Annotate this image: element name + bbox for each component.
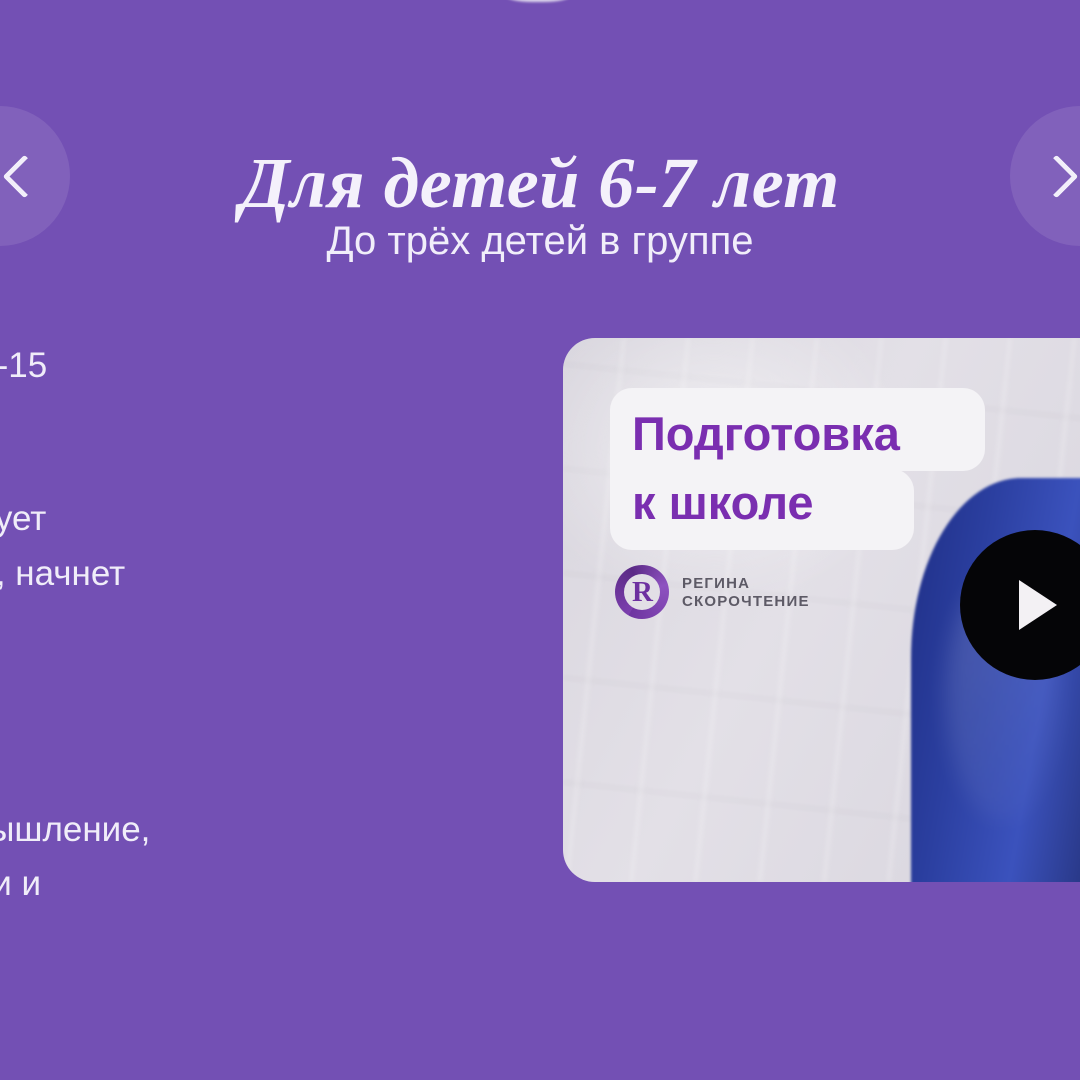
brand-monogram: R: [615, 565, 669, 619]
thumbnail-headline-line2: к школе: [610, 469, 914, 550]
thumbnail-headline-line1: Подготовка: [610, 388, 985, 471]
page-subtitle: До трёх детей в группе: [0, 221, 1080, 261]
regina-logo-icon: R: [615, 565, 669, 619]
benefit-line: ений: [0, 920, 570, 955]
brand-wordmark: РЕГИНА СКОРОЧТЕНИЕ: [682, 576, 810, 609]
page-title: Для детей 6-7 лет: [0, 147, 1080, 219]
slide-root: Для детей 6-7 лет До трёх детей в группе…: [0, 0, 1080, 1080]
thumbnail-headline: Подготовка к школе: [610, 388, 985, 550]
brand-name-line1: РЕГИНА: [682, 576, 810, 591]
brand-name-line2: СКОРОЧТЕНИЕ: [682, 594, 810, 609]
benefit-line: енную речь, начнет: [0, 556, 570, 591]
benefit-line: тическое мышление,: [0, 812, 570, 847]
benefit-line: с, сформирует: [0, 501, 570, 536]
benefit-line: дчивость: [0, 709, 570, 744]
benefit-line: ать словами и: [0, 866, 570, 901]
play-icon: [1019, 580, 1057, 630]
benefit-line: лексии за 2-15: [0, 348, 570, 383]
brand-lockup: R РЕГИНА СКОРОЧТЕНИЕ: [615, 565, 810, 619]
clipped-text-above-title: [505, 0, 571, 2]
benefits-copy: лексии за 2-15 с, сформирует енную речь,…: [0, 336, 570, 955]
